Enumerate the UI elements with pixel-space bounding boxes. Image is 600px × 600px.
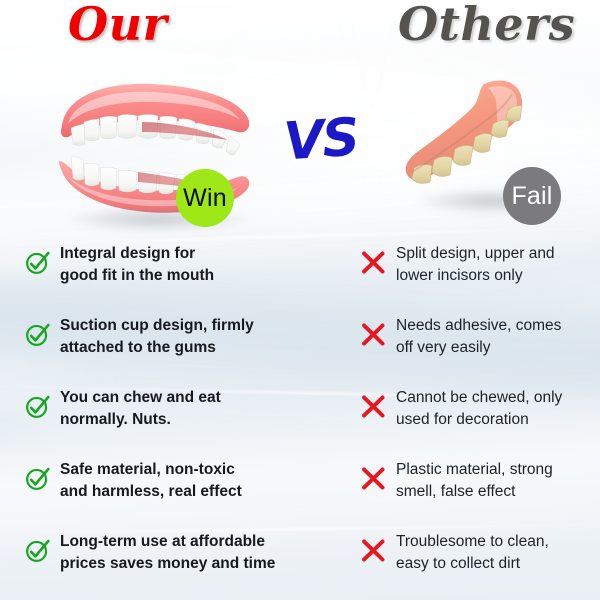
product-image-our-denture [42,70,272,230]
pro-text: Integral design for good fit in the mout… [60,243,214,287]
pro-item: Long-term use at affordable prices saves… [24,531,314,575]
check-circle-icon [24,537,51,564]
check-circle-icon [24,465,51,492]
pro-text: Suction cup design, firmly attached to t… [60,315,254,359]
con-item: Plastic material, strong smell, false ef… [360,459,598,503]
pro-item: Safe material, non-toxic and harmless, r… [24,459,314,503]
cross-icon [360,465,387,492]
con-item: Troublesome to clean, easy to collect di… [360,531,598,575]
comparison-rows: Integral design for good fit in the mout… [0,243,600,600]
pro-text: Safe material, non-toxic and harmless, r… [60,459,242,503]
comparison-row: Suction cup design, firmly attached to t… [0,315,600,387]
pro-item: Integral design for good fit in the mout… [24,243,314,287]
page-title-others: Others [398,0,575,51]
con-text: Needs adhesive, comes off very easily [396,315,561,359]
con-text: Cannot be chewed, only used for decorati… [396,387,562,431]
con-item: Cannot be chewed, only used for decorati… [360,387,598,431]
status-badge-fail: Fail [503,167,561,225]
check-circle-icon [24,393,51,420]
con-text: Split design, upper and lower incisors o… [396,243,555,287]
comparison-infographic: Our Others [0,0,600,600]
comparison-row: Long-term use at affordable prices saves… [0,531,600,600]
pro-item: You can chew and eat normally. Nuts. [24,387,314,431]
status-badge-win: Win [176,169,234,227]
cross-icon [360,537,387,564]
con-item: Needs adhesive, comes off very easily [360,315,598,359]
con-text: Troublesome to clean, easy to collect di… [396,531,549,575]
versus-label: VS [282,111,359,168]
page-title-ours: Our [68,0,167,51]
comparison-row: Safe material, non-toxic and harmless, r… [0,459,600,531]
con-text: Plastic material, strong smell, false ef… [396,459,553,503]
check-circle-icon [24,321,51,348]
pro-text: You can chew and eat normally. Nuts. [60,387,221,431]
pro-text: Long-term use at affordable prices saves… [60,531,275,575]
pro-item: Suction cup design, firmly attached to t… [24,315,314,359]
check-circle-icon [24,249,51,276]
comparison-row: Integral design for good fit in the mout… [0,243,600,315]
cross-icon [360,393,387,420]
comparison-row: You can chew and eat normally. Nuts. Can… [0,387,600,459]
cross-icon [360,249,387,276]
con-item: Split design, upper and lower incisors o… [360,243,598,287]
cross-icon [360,321,387,348]
